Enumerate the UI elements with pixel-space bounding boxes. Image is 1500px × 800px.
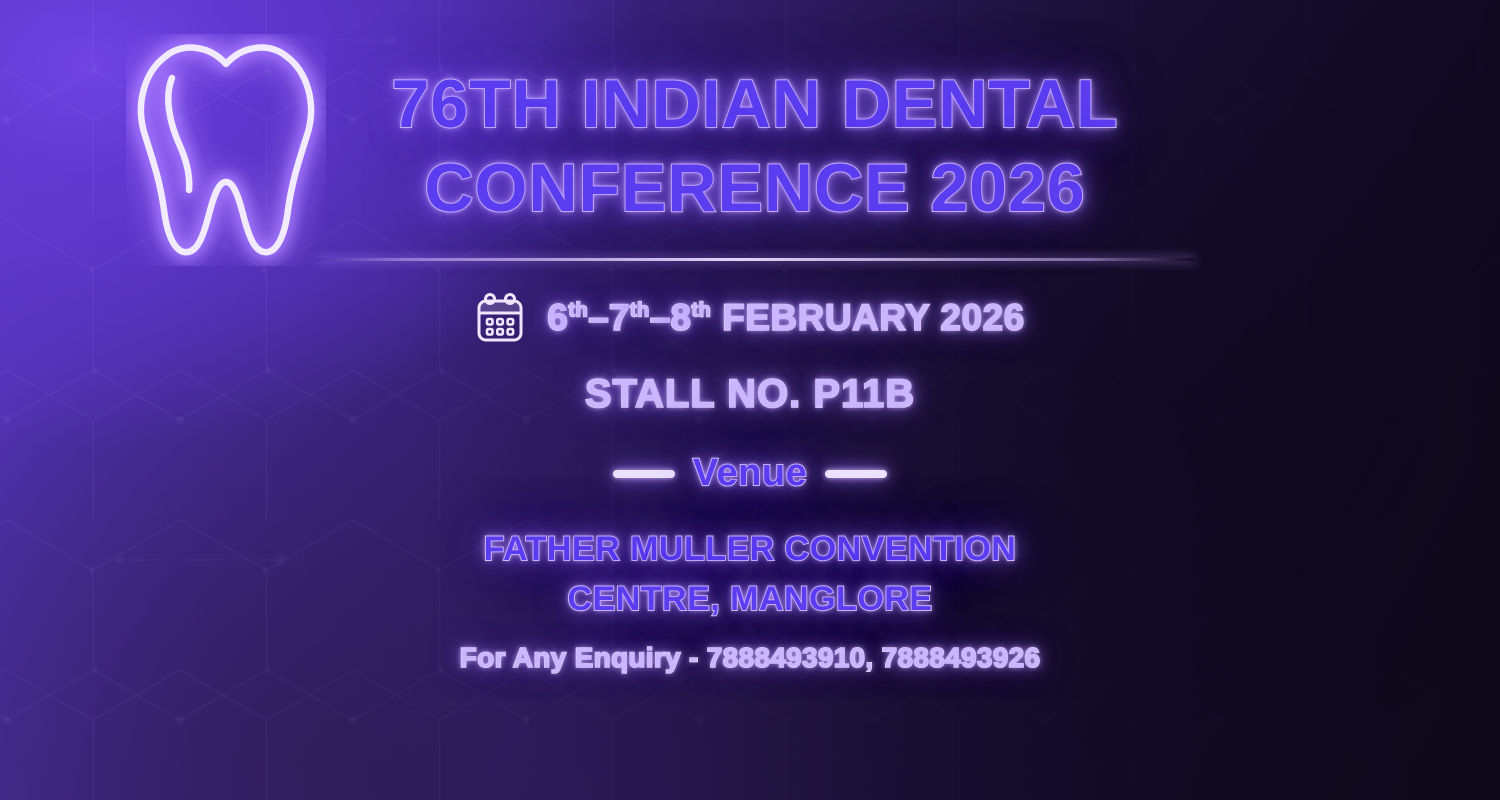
title-divider bbox=[315, 258, 1195, 261]
venue-address-line-1: FATHER MULLER CONVENTION bbox=[0, 524, 1500, 574]
date-day-2-suffix: th bbox=[630, 300, 650, 322]
venue-label: Venue bbox=[693, 452, 807, 495]
title-line-2: CONFERENCE 2026 bbox=[310, 146, 1200, 230]
title-line-1: 76TH INDIAN DENTAL bbox=[310, 62, 1200, 146]
date-day-3-suffix: th bbox=[691, 300, 711, 322]
date-day-1-suffix: th bbox=[568, 300, 588, 322]
calendar-icon bbox=[475, 292, 525, 344]
venue-dash-left bbox=[613, 470, 675, 478]
stall-number: STALL NO. P11B bbox=[0, 372, 1500, 417]
date-separator-2: – bbox=[650, 297, 671, 338]
venue-heading: Venue bbox=[0, 452, 1500, 495]
date-separator-1: – bbox=[588, 297, 609, 338]
venue-address-line-2: CENTRE, MANGLORE bbox=[0, 574, 1500, 624]
event-date-text: 6th–7th–8th FEBRUARY 2026 bbox=[547, 297, 1024, 339]
enquiry-contact: For Any Enquiry - 7888493910, 7888493926 bbox=[0, 642, 1500, 674]
date-day-2: 7 bbox=[609, 297, 630, 338]
event-date-row: 6th–7th–8th FEBRUARY 2026 bbox=[0, 292, 1500, 344]
venue-address: FATHER MULLER CONVENTION CENTRE, MANGLOR… bbox=[0, 524, 1500, 624]
tooth-icon bbox=[126, 34, 326, 266]
date-month-year: FEBRUARY 2026 bbox=[722, 297, 1025, 338]
conference-title: 76TH INDIAN DENTAL CONFERENCE 2026 bbox=[310, 62, 1200, 230]
venue-dash-right bbox=[825, 470, 887, 478]
date-day-1: 6 bbox=[547, 297, 568, 338]
conference-banner: 76TH INDIAN DENTAL CONFERENCE 2026 bbox=[0, 0, 1500, 800]
date-day-3: 8 bbox=[670, 297, 691, 338]
